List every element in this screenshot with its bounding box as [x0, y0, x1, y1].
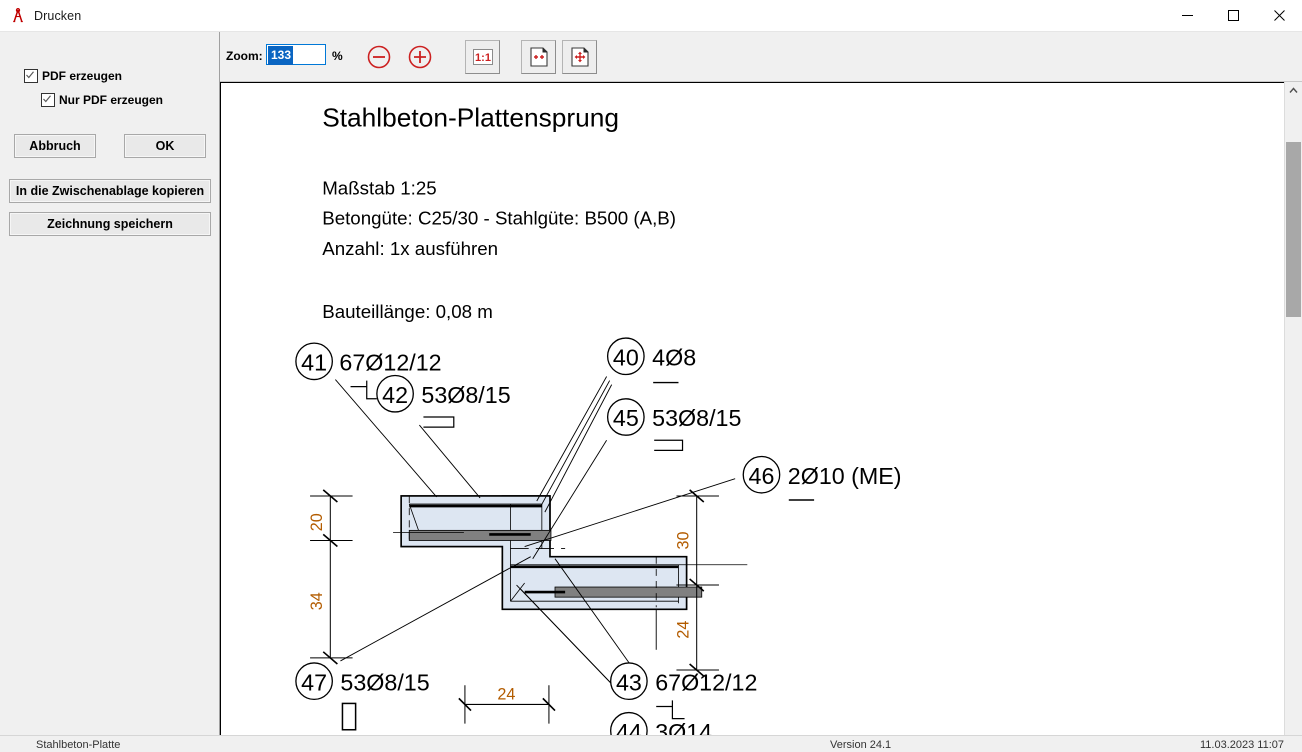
dimension-20-left: 20 [308, 513, 326, 531]
concrete-section [393, 496, 747, 609]
cancel-button[interactable]: Abbruch [14, 134, 96, 158]
title-bar: Drucken [0, 0, 1302, 32]
checkbox-label: PDF erzeugen [42, 69, 122, 83]
status-right: 11.03.2023 11:07 [1200, 739, 1284, 751]
status-bar: Stahlbeton-Platte Version 24.1 11.03.202… [0, 735, 1302, 752]
ok-button[interactable]: OK [124, 134, 206, 158]
vertical-scrollbar[interactable] [1284, 82, 1302, 752]
print-dialog-window: Drucken PDF erzeugen [0, 0, 1302, 752]
bend-shape-stirrup [342, 703, 355, 729]
position-number: 46 [749, 463, 775, 489]
checkbox-nur-pdf-erzeugen[interactable]: Nur PDF erzeugen [41, 93, 163, 107]
position-number: 41 [301, 349, 327, 375]
dimension-24-bottom: 24 [497, 685, 515, 703]
zoom-input[interactable]: 133 [266, 44, 326, 65]
bend-shape-z [656, 700, 684, 718]
zoom-label: Zoom: [226, 49, 263, 63]
status-center: Version 24.1 [830, 739, 891, 751]
checkbox-box[interactable] [24, 69, 38, 83]
checkbox-label: Nur PDF erzeugen [59, 93, 163, 107]
position-label-41[interactable]: 41 67Ø12/12 [296, 343, 442, 399]
save-drawing-button[interactable]: Zeichnung speichern [9, 212, 211, 236]
copy-to-clipboard-button[interactable]: In die Zwischenablage kopieren [9, 179, 211, 203]
dimension-24-right: 24 [675, 621, 693, 639]
preview-panel: Zoom: 133 % [220, 32, 1302, 752]
fit-width-icon [527, 45, 551, 69]
drawing-length-line: Bauteillänge: 0,08 m [322, 301, 493, 322]
checkbox-pdf-erzeugen[interactable]: PDF erzeugen [24, 69, 122, 83]
fit-page-button[interactable] [562, 40, 597, 74]
dialog-content: PDF erzeugen Nur PDF erzeugen Abbruch OK… [0, 32, 1302, 752]
technical-drawing: Stahlbeton-Plattensprung Maßstab 1:25 Be… [221, 83, 1284, 751]
maximize-icon[interactable] [1210, 0, 1256, 31]
percent-label: % [332, 49, 343, 63]
position-text: 53Ø8/15 [340, 669, 429, 695]
bend-shape-flat-hook [423, 417, 453, 427]
position-label-43[interactable]: 43 67Ø12/12 [611, 663, 758, 719]
window-title: Drucken [34, 9, 81, 23]
drawing-info-line-3: Anzahl: 1x ausführen [322, 238, 498, 259]
position-label-42[interactable]: 42 53Ø8/15 [377, 376, 511, 428]
status-left: Stahlbeton-Platte [36, 739, 120, 751]
compass-icon [9, 7, 27, 25]
position-text: 53Ø8/15 [652, 405, 741, 431]
dimension-34-left: 34 [308, 592, 326, 610]
position-text: 2Ø10 (ME) [788, 463, 902, 489]
scroll-up-button[interactable] [1285, 82, 1302, 99]
bend-shape-flat-hook [654, 440, 682, 450]
position-label-47[interactable]: 47 53Ø8/15 [296, 663, 430, 730]
position-number: 42 [382, 382, 408, 408]
position-label-45[interactable]: 45 53Ø8/15 [608, 399, 742, 451]
drawing-info-line-2: Betongüte: C25/30 - Stahlgüte: B500 (A,B… [322, 208, 676, 229]
zoom-input-value: 133 [268, 46, 293, 65]
position-number: 47 [301, 669, 327, 695]
close-icon[interactable] [1256, 0, 1302, 31]
minimize-icon[interactable] [1164, 0, 1210, 31]
position-text: 53Ø8/15 [421, 382, 510, 408]
actual-size-button[interactable]: 1:1 [465, 40, 500, 74]
window-controls [1164, 0, 1302, 31]
position-number: 45 [613, 405, 639, 431]
drawing-preview[interactable]: Stahlbeton-Plattensprung Maßstab 1:25 Be… [220, 82, 1285, 752]
fit-page-icon [568, 45, 592, 69]
position-label-46[interactable]: 46 2Ø10 (ME) [743, 456, 901, 500]
plus-circle-icon [406, 43, 434, 71]
zoom-toolbar: Zoom: 133 % [220, 32, 1302, 82]
preview-area: Stahlbeton-Plattensprung Maßstab 1:25 Be… [220, 82, 1302, 752]
checkbox-box[interactable] [41, 93, 55, 107]
position-number: 43 [616, 669, 642, 695]
options-panel: PDF erzeugen Nur PDF erzeugen Abbruch OK… [0, 32, 220, 752]
zoom-out-button[interactable] [361, 40, 396, 74]
position-text: 67Ø12/12 [339, 349, 441, 375]
minus-circle-icon [365, 43, 393, 71]
fit-width-button[interactable] [521, 40, 556, 74]
zoom-in-button[interactable] [402, 40, 437, 74]
drawing-info-line-1: Maßstab 1:25 [322, 177, 436, 198]
position-text: 4Ø8 [652, 344, 696, 370]
scrollbar-thumb[interactable] [1286, 142, 1301, 317]
position-text: 67Ø12/12 [655, 669, 757, 695]
drawing-title: Stahlbeton-Plattensprung [322, 103, 619, 133]
position-number: 40 [613, 344, 639, 370]
rebar-bar-bottom [555, 587, 702, 597]
dimension-30-right: 30 [675, 531, 693, 549]
svg-text:1:1: 1:1 [475, 52, 491, 64]
one-to-one-icon: 1:1 [472, 46, 494, 68]
position-label-40[interactable]: 40 4Ø8 [608, 338, 697, 383]
bend-shape-z [351, 381, 377, 399]
